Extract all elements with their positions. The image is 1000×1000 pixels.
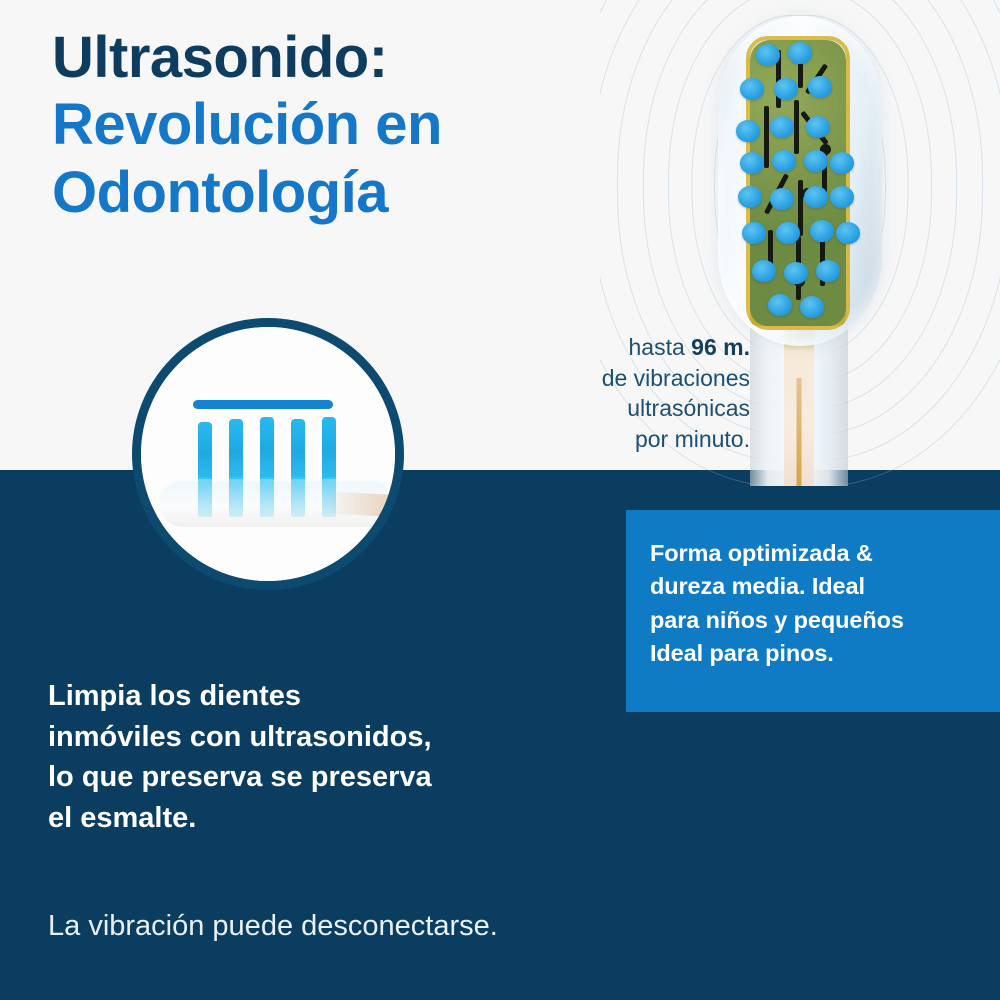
bristles-photo	[141, 327, 395, 581]
poster-canvas: Ultrasonido: Revolución en Odontología	[0, 0, 1000, 1000]
bottom-copy-line-4: el esmalte.	[48, 798, 628, 839]
callout-line-2: dureza media. Ideal	[650, 570, 978, 603]
blue-level-bar	[193, 400, 333, 409]
headline-line-3: Odontología	[52, 159, 612, 226]
vibration-caption-line-4: por minuto.	[430, 424, 750, 455]
bottom-copy-line-2: inmóviles con ultrasonidos,	[48, 717, 628, 758]
bottom-note: La vibración puede desconectarse.	[48, 908, 788, 946]
vibration-caption-line-2: de vibraciones	[430, 363, 750, 394]
bottom-copy-line-3: lo que preserva se preserva	[48, 757, 628, 798]
page-title: Ultrasonido: Revolución en Odontología	[52, 24, 612, 226]
vibration-caption-line-3: ultrasónicas	[430, 393, 750, 424]
toothbrush-head	[718, 16, 882, 346]
vibration-caption: hasta 96 m. de vibraciones ultrasónicas …	[430, 332, 750, 454]
bottom-copy-line-1: Limpia los dientes	[48, 676, 628, 717]
vibration-caption-line-1: hasta 96 m.	[430, 332, 750, 363]
vibration-caption-value: 96 m.	[691, 334, 750, 360]
callout-line-1: Forma optimizada &	[650, 537, 978, 570]
callout-line-4: Ideal para pinos.	[650, 637, 978, 670]
vibration-caption-prefix: hasta	[629, 334, 692, 360]
callout-line-3: para niños y pequeños	[650, 604, 978, 637]
callout-box: Forma optimizada & dureza media. Ideal p…	[626, 510, 1000, 712]
headline-line-1: Ultrasonido:	[52, 24, 612, 91]
headline-line-2: Revolución en	[52, 91, 612, 158]
bristles-circle-image	[132, 318, 404, 590]
bottom-copy: Limpia los dientes inmóviles con ultraso…	[48, 676, 628, 838]
